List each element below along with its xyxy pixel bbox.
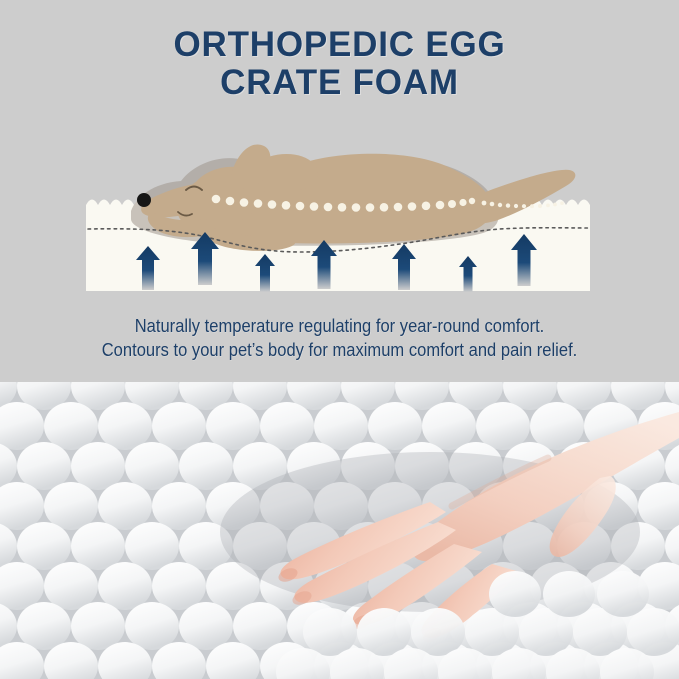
dog-nose	[137, 193, 151, 207]
product-infographic: ORTHOPEDIC EGG CRATE FOAM	[0, 0, 679, 679]
subtitle-block: Naturally temperature regulating for yea…	[0, 314, 679, 362]
subtitle-line-2: Contours to your pet’s body for maximum …	[27, 338, 652, 362]
foam-photo-graphic	[0, 382, 679, 679]
top-info-panel: ORTHOPEDIC EGG CRATE FOAM	[0, 0, 679, 382]
title-line-1: ORTHOPEDIC EGG	[0, 26, 679, 64]
foam-texture-photo	[0, 382, 679, 679]
page-title: ORTHOPEDIC EGG CRATE FOAM	[0, 26, 679, 102]
subtitle-line-1: Naturally temperature regulating for yea…	[27, 314, 652, 338]
dog-on-foam-illustration	[0, 128, 679, 308]
title-line-2: CRATE FOAM	[0, 64, 679, 102]
